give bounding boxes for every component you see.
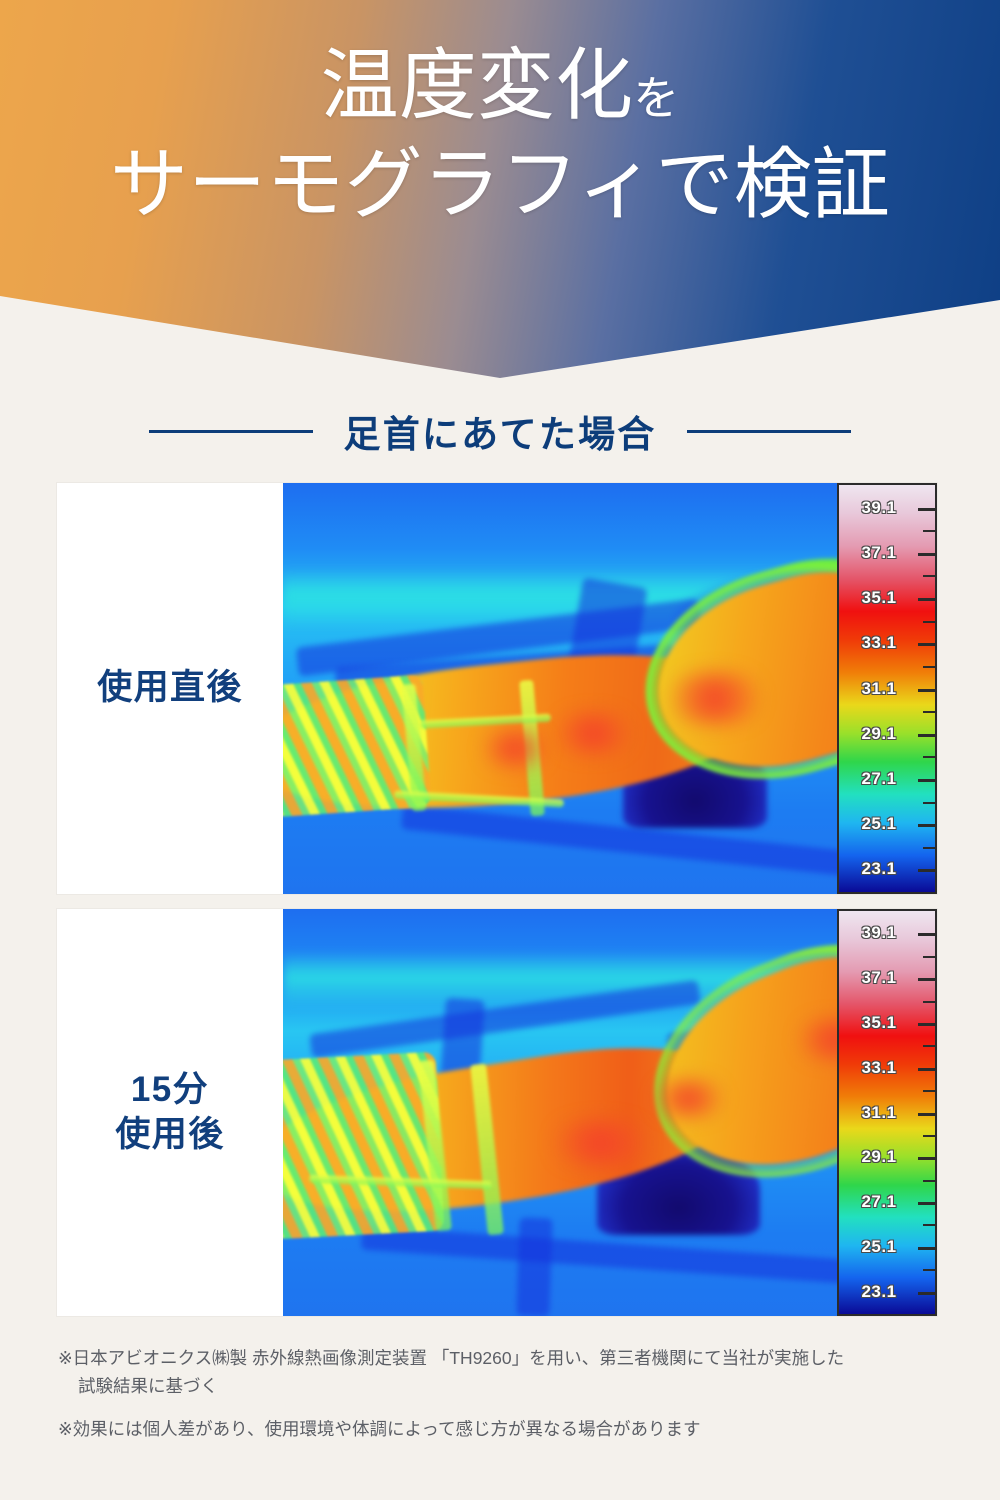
hero-title-particle: を [633, 73, 679, 124]
hero-title: 温度変化を サーモグラフィで検証 [0, 0, 1000, 232]
footnote-measurement-device: ※日本アビオニクス㈱製 赤外線熱画像測定装置 「TH9260」を用い、第三者機関… [58, 1344, 958, 1401]
section-header: 足首にあてた場合 [0, 400, 1000, 462]
footnote-individual-differences: ※効果には個人差があり、使用環境や体調によって感じ方が異なる場合があります [58, 1415, 958, 1443]
colorbar-tick-label: 33.1 [843, 633, 915, 653]
footnote-1-line-2: 試験結果に基づく [58, 1372, 958, 1400]
panel-label-immediately-after: 使用直後 [57, 483, 283, 894]
hotspot-heel-1 [479, 730, 551, 767]
colorbar-tick-label: 29.1 [843, 724, 915, 744]
hero-title-line2: サーモグラフィで検証 [0, 137, 1000, 232]
rule-left-decoration [149, 430, 313, 433]
colorbar-tick-label: 23.1 [843, 1282, 915, 1302]
section-title: 足首にあてた場合 [343, 404, 656, 458]
colorbar-tick-label: 31.1 [843, 679, 915, 699]
colorbar-tick-label: 33.1 [843, 1058, 915, 1078]
colorbar-tick-label: 29.1 [843, 1147, 915, 1167]
sheet-fold-f2 [517, 1218, 553, 1316]
colorbar-tick-label: 27.1 [843, 1192, 915, 1212]
colorbar-labels-2: 39.137.135.133.131.129.127.125.123.1 [839, 911, 935, 1314]
hero-title-main: 温度変化 [321, 42, 634, 129]
rule-right-decoration [687, 430, 851, 433]
thermal-panel-after-15-minutes: 15分 使用後 [57, 909, 937, 1316]
colorbar-tick-label: 37.1 [843, 543, 915, 563]
hotspot-ankle-1 [551, 713, 636, 754]
thermography-page: 温度変化を サーモグラフィで検証 足首にあてた場合 使用直後 [0, 0, 1000, 1500]
temperature-colorbar-1: 39.137.135.133.131.129.127.125.123.1 [837, 483, 937, 894]
footnote-1-line-1: ※日本アビオニクス㈱製 赤外線熱画像測定装置 「TH9260」を用い、第三者機関… [58, 1348, 844, 1368]
hero-title-line1: 温度変化を [0, 38, 1000, 133]
colorbar-tick-label: 31.1 [843, 1103, 915, 1123]
colorbar-tick-label: 25.1 [843, 1237, 915, 1257]
colorbar-tick-label: 37.1 [843, 968, 915, 988]
panel-label-text: 使用直後 [97, 666, 243, 711]
thermal-image-immediately-after: 39.137.135.133.131.129.127.125.123.1 [283, 483, 937, 894]
panel-label-text-line2: 使用後 [115, 1113, 224, 1158]
colorbar-tick-label: 39.1 [843, 923, 915, 943]
colorbar-tick-label: 25.1 [843, 814, 915, 834]
hotspot-ankle-2 [545, 1121, 656, 1166]
panel-label-text-line1: 15分 [115, 1068, 224, 1113]
colorbar-tick-label: 23.1 [843, 859, 915, 879]
footnote-2-line-1: ※効果には個人差があり、使用環境や体調によって感じ方が異なる場合があります [58, 1419, 701, 1439]
colorbar-tick-label: 35.1 [843, 588, 915, 608]
temperature-colorbar-2: 39.137.135.133.131.129.127.125.123.1 [837, 909, 937, 1316]
colorbar-tick-label: 35.1 [843, 1013, 915, 1033]
hotspot-midfoot-1 [662, 672, 767, 725]
colorbar-labels-1: 39.137.135.133.131.129.127.125.123.1 [839, 485, 935, 892]
colorbar-tick-label: 39.1 [843, 498, 915, 518]
colorbar-tick-label: 27.1 [843, 769, 915, 789]
thermal-image-after-15-minutes: 39.137.135.133.131.129.127.125.123.1 [283, 909, 937, 1316]
hotspot-shin-2 [649, 1080, 727, 1117]
footnotes: ※日本アビオニクス㈱製 赤外線熱画像測定装置 「TH9260」を用い、第三者機関… [58, 1344, 958, 1457]
panel-label-wrapper: 15分 使用後 [115, 1068, 224, 1158]
panel-label-after-15-minutes: 15分 使用後 [57, 909, 283, 1316]
thermal-panel-immediately-after: 使用直後 [57, 483, 937, 894]
